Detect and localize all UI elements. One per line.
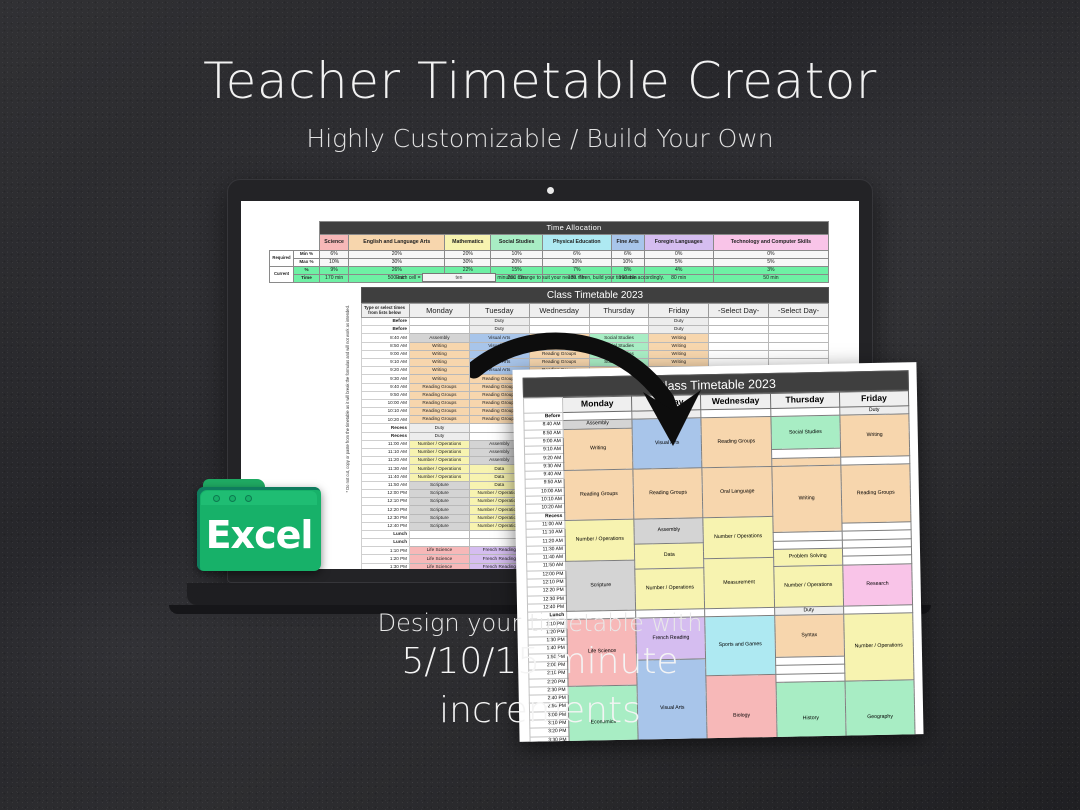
- alloc-subject-header: Foregin Languages: [644, 235, 713, 251]
- time-cell[interactable]: 8:40 AM: [362, 334, 410, 342]
- alloc-cell: 10%: [542, 259, 611, 267]
- schedule-cell[interactable]: Number / Operations: [410, 449, 470, 457]
- schedule-cell[interactable]: Measurement: [704, 558, 774, 609]
- time-cell[interactable]: Before: [362, 318, 410, 326]
- time-cell[interactable]: 11:50 AM: [362, 481, 410, 489]
- schedule-cell[interactable]: [410, 318, 470, 326]
- day-header[interactable]: -Select Day-: [709, 304, 769, 318]
- time-cell[interactable]: 9:30 AM: [362, 375, 410, 383]
- folder-dot-2: [229, 495, 236, 502]
- day-header[interactable]: -Select Day-: [769, 304, 829, 318]
- time-cell[interactable]: 9:00 AM: [362, 350, 410, 358]
- alloc-row-time: Time: [294, 275, 320, 283]
- alloc-cell: 6%: [611, 251, 644, 259]
- schedule-cell[interactable]: Number / Operations: [565, 519, 635, 562]
- alloc-subject-header: Fine Arts: [611, 235, 644, 251]
- schedule-cell[interactable]: Data: [635, 543, 705, 569]
- alloc-cell: 10%: [491, 251, 543, 259]
- schedule-cell[interactable]: Problem Solving: [773, 548, 842, 566]
- alloc-row-max: Max %: [294, 259, 320, 267]
- alloc-subject-header: Mathematics: [445, 235, 491, 251]
- folder-dot-1: [213, 495, 220, 502]
- folder-dot-3: [245, 495, 252, 502]
- time-cell[interactable]: 9:20 AM: [362, 367, 410, 375]
- time-cell[interactable]: 11:30 AM: [362, 465, 410, 473]
- each-cell-prefix: Each cell =: [396, 275, 421, 281]
- schedule-cell[interactable]: Assembly: [634, 518, 704, 544]
- alloc-subject-header: English and Language Arts: [349, 235, 445, 251]
- time-cell[interactable]: 1:10 PM: [362, 547, 410, 555]
- alloc-row-pct: %: [294, 267, 320, 275]
- alloc-subject-header: Physical Education: [542, 235, 611, 251]
- each-cell-input[interactable]: ten: [422, 273, 496, 282]
- page-title: Teacher Timetable Creator: [0, 52, 1080, 110]
- schedule-cell[interactable]: Reading Groups: [410, 391, 470, 399]
- schedule-cell[interactable]: Scripture: [410, 498, 470, 506]
- schedule-cell[interactable]: Scripture: [410, 481, 470, 489]
- schedule-cell[interactable]: Writing: [410, 367, 470, 375]
- time-cell[interactable]: Before: [362, 326, 410, 334]
- schedule-cell[interactable]: [410, 530, 470, 538]
- schedule-cell[interactable]: Number / Operations: [410, 473, 470, 481]
- day-header[interactable]: Friday: [839, 391, 909, 407]
- schedule-cell[interactable]: Writing: [771, 465, 841, 533]
- time-cell[interactable]: 12:00 PM: [362, 489, 410, 497]
- schedule-cell[interactable]: Number / Operations: [410, 457, 470, 465]
- schedule-cell[interactable]: Writing: [410, 358, 470, 366]
- schedule-cell[interactable]: [769, 342, 829, 350]
- alloc-cell: 0%: [644, 251, 713, 259]
- time-cell[interactable]: 12:10 PM: [362, 498, 410, 506]
- schedule-cell[interactable]: [410, 539, 470, 547]
- time-cell[interactable]: 12:30 PM: [362, 514, 410, 522]
- schedule-cell[interactable]: Writing: [410, 350, 470, 358]
- alloc-cell: 20%: [445, 251, 491, 259]
- day-header[interactable]: Friday: [649, 304, 709, 318]
- schedule-cell[interactable]: Reading Groups: [410, 416, 470, 424]
- schedule-cell[interactable]: Writing: [410, 342, 470, 350]
- alloc-cell: 20%: [491, 259, 543, 267]
- schedule-cell[interactable]: Scripture: [410, 506, 470, 514]
- time-cell[interactable]: 11:00 AM: [362, 440, 410, 448]
- alloc-cell: 0%: [713, 251, 828, 259]
- schedule-cell[interactable]: [769, 326, 829, 334]
- time-cell[interactable]: 8:50 AM: [362, 342, 410, 350]
- schedule-cell[interactable]: Scripture: [410, 514, 470, 522]
- time-allocation-title: Time Allocation: [320, 222, 829, 235]
- alloc-cell: 50 min: [713, 275, 828, 283]
- schedule-cell[interactable]: Research: [843, 563, 913, 606]
- schedule-cell[interactable]: Duty: [410, 424, 470, 432]
- alloc-cell: 9%: [320, 267, 349, 275]
- schedule-cell[interactable]: [769, 318, 829, 326]
- schedule-cell[interactable]: Number / Operations: [703, 516, 773, 559]
- time-cell[interactable]: 9:10 AM: [362, 358, 410, 366]
- footer-line-1: Design your timetable with: [0, 609, 1080, 637]
- time-cell[interactable]: 1:30 PM: [362, 563, 410, 569]
- alloc-corner2: [294, 222, 320, 235]
- alloc-row-min: Min %: [294, 251, 320, 259]
- schedule-cell[interactable]: Reading Groups: [841, 464, 911, 523]
- excel-file-icon: Excel: [197, 477, 325, 573]
- time-col-header: Type or select times from lists below: [362, 304, 410, 318]
- schedule-cell[interactable]: Writing: [840, 414, 910, 457]
- schedule-cell[interactable]: Scripture: [410, 522, 470, 530]
- time-cell[interactable]: 12:20 PM: [362, 506, 410, 514]
- time-cell[interactable]: 9:50 AM: [362, 391, 410, 399]
- day-header[interactable]: Tuesday: [469, 304, 529, 318]
- alloc-cell: 3%: [713, 267, 828, 275]
- schedule-cell[interactable]: Scripture: [566, 560, 636, 611]
- schedule-cell[interactable]: Duty: [410, 432, 470, 440]
- page-subtitle: Highly Customizable / Build Your Own: [0, 124, 1080, 153]
- time-cell[interactable]: 1:20 PM: [362, 555, 410, 563]
- each-cell-row: Each cell = ten minutes. Change to suit …: [396, 273, 664, 282]
- webcam-icon: [547, 187, 554, 194]
- schedule-cell[interactable]: Assembly: [410, 334, 470, 342]
- alloc-cell: 10%: [611, 259, 644, 267]
- time-cell[interactable]: 11:10 AM: [362, 449, 410, 457]
- schedule-cell[interactable]: [769, 350, 829, 358]
- time-cell[interactable]: 11:20 AM: [362, 457, 410, 465]
- day-header[interactable]: Thursday: [770, 392, 839, 408]
- alloc-cell: 6%: [542, 251, 611, 259]
- time-cell[interactable]: 9:40 AM: [362, 383, 410, 391]
- footer-line-3: increments: [0, 690, 1080, 731]
- alloc-cell: 170 min: [320, 275, 349, 283]
- time-cell[interactable]: 10:20 AM: [362, 416, 410, 424]
- alloc-cell: 5%: [713, 259, 828, 267]
- time-cell[interactable]: 11:40 AM: [362, 473, 410, 481]
- alloc-cell: 6%: [320, 251, 349, 259]
- schedule-cell[interactable]: Number / Operations: [410, 440, 470, 448]
- schedule-cell[interactable]: Writing: [410, 375, 470, 383]
- alloc-cell: 20%: [349, 251, 445, 259]
- alloc-subject-header: Technology and Computer Skills: [713, 235, 828, 251]
- schedule-cell[interactable]: Reading Groups: [410, 399, 470, 407]
- schedule-cell[interactable]: Reading Groups: [410, 383, 470, 391]
- day-header[interactable]: Wednesday: [529, 304, 589, 318]
- alloc-corner: [270, 222, 294, 235]
- schedule-cell[interactable]: Number / Operations: [410, 465, 470, 473]
- alloc-cell: 30%: [349, 259, 445, 267]
- alloc-group-current: Current: [270, 267, 294, 283]
- alloc-group-required: Required: [270, 251, 294, 267]
- curved-arrow-icon: [470, 318, 770, 508]
- schedule-cell[interactable]: Scripture: [410, 489, 470, 497]
- time-cell[interactable]: 10:10 AM: [362, 408, 410, 416]
- each-cell-suffix: minutes. Change to suit your needs. Then…: [497, 275, 664, 281]
- schedule-cell[interactable]: Life Science: [410, 547, 470, 555]
- alloc-subject-header: Science: [320, 235, 349, 251]
- time-cell[interactable]: Recess: [362, 432, 410, 440]
- day-header[interactable]: Monday: [410, 304, 470, 318]
- time-cell[interactable]: Lunch: [362, 530, 410, 538]
- alloc-subject-header: Social Studies: [491, 235, 543, 251]
- schedule-cell[interactable]: Social Studies: [770, 415, 840, 450]
- schedule-cell[interactable]: [410, 326, 470, 334]
- schedule-cell[interactable]: Life Science: [410, 563, 470, 569]
- time-cell[interactable]: 10:00 AM: [362, 399, 410, 407]
- alloc-cell: 10%: [320, 259, 349, 267]
- schedule-cell[interactable]: Life Science: [410, 555, 470, 563]
- time-cell[interactable]: 3:30 PM: [530, 736, 569, 742]
- excel-label: Excel: [197, 513, 321, 557]
- footer-line-2: 5/10/15 minute: [0, 641, 1080, 682]
- day-header[interactable]: Thursday: [589, 304, 649, 318]
- schedule-cell[interactable]: Reading Groups: [410, 408, 470, 416]
- alloc-cell: 30%: [445, 259, 491, 267]
- time-cell[interactable]: Recess: [362, 424, 410, 432]
- schedule-cell[interactable]: Number / Operations: [773, 565, 843, 608]
- alloc-cell: 5%: [644, 259, 713, 267]
- timetable-title-background: Class Timetable 2023: [361, 287, 829, 303]
- schedule-cell[interactable]: [769, 334, 829, 342]
- time-cell[interactable]: 12:40 PM: [362, 522, 410, 530]
- schedule-cell[interactable]: Number / Operations: [635, 567, 705, 610]
- time-cell[interactable]: Lunch: [362, 539, 410, 547]
